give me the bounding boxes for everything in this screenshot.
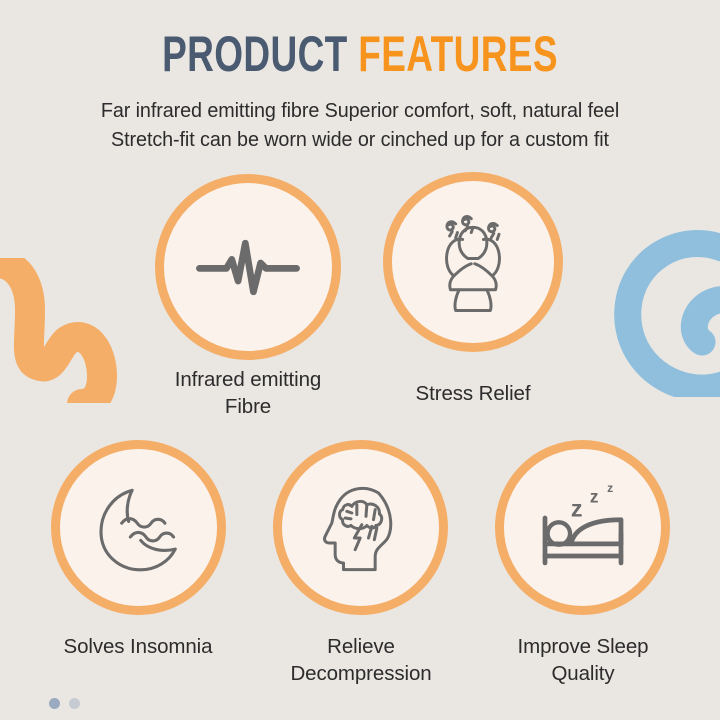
feature-label-line-1: Stress Relief	[416, 382, 531, 405]
title-word-product: PRODUCT	[162, 26, 348, 82]
feature-caption-improve-sleep-quality: Improve Sleep Quality	[473, 633, 693, 687]
subtitle-line-2: Stretch-fit can be worn wide or cinched …	[13, 125, 708, 154]
feature-caption-solves-insomnia: Solves Insomnia	[18, 633, 258, 660]
head-brain-icon	[315, 478, 407, 578]
feature-circle-infrared-emitting-fibre[interactable]	[155, 174, 341, 360]
blue-swirl-decoration	[594, 222, 720, 397]
feature-label-line-2: Fibre	[225, 395, 271, 418]
product-features-infographic: PRODUCT FEATURES Far infrared emitting f…	[0, 0, 720, 720]
feature-circle-stress-relief[interactable]	[383, 172, 563, 352]
page-title: PRODUCT FEATURES	[94, 27, 627, 81]
stressed-person-icon	[421, 210, 525, 314]
feature-label-line-1: Relieve	[327, 635, 395, 658]
sleeping-bed-icon: z z z	[531, 480, 635, 575]
feature-circle-improve-sleep-quality[interactable]: z z z	[495, 440, 670, 615]
feature-circle-solves-insomnia[interactable]	[51, 440, 226, 615]
page-subtitle: Far infrared emitting fibre Superior com…	[13, 96, 708, 154]
feature-label-line-1: Improve Sleep	[518, 635, 649, 658]
feature-label-line-1: Infrared emitting	[175, 368, 321, 391]
feature-circle-relieve-decompression[interactable]	[273, 440, 448, 615]
svg-text:z: z	[589, 486, 598, 506]
svg-text:z: z	[607, 481, 613, 495]
carousel-indicator[interactable]	[49, 698, 80, 709]
pulse-wave-icon	[194, 236, 302, 299]
feature-label-line-2: Decompression	[290, 662, 431, 685]
feature-label-line-1: Solves Insomnia	[64, 635, 213, 658]
subtitle-line-1: Far infrared emitting fibre Superior com…	[13, 96, 708, 125]
feature-caption-relieve-decompression: Relieve Decompression	[250, 633, 472, 687]
title-word-features: FEATURES	[358, 26, 558, 82]
crescent-moon-icon	[87, 480, 191, 575]
feature-caption-infrared-emitting-fibre: Infrared emitting Fibre	[117, 366, 379, 420]
carousel-dot-2[interactable]	[69, 698, 80, 709]
carousel-dot-1[interactable]	[49, 698, 60, 709]
feature-caption-stress-relief: Stress Relief	[368, 380, 578, 407]
svg-text:z: z	[570, 495, 582, 521]
orange-squiggle-decoration	[0, 258, 122, 403]
feature-label-line-2: Quality	[551, 662, 614, 685]
